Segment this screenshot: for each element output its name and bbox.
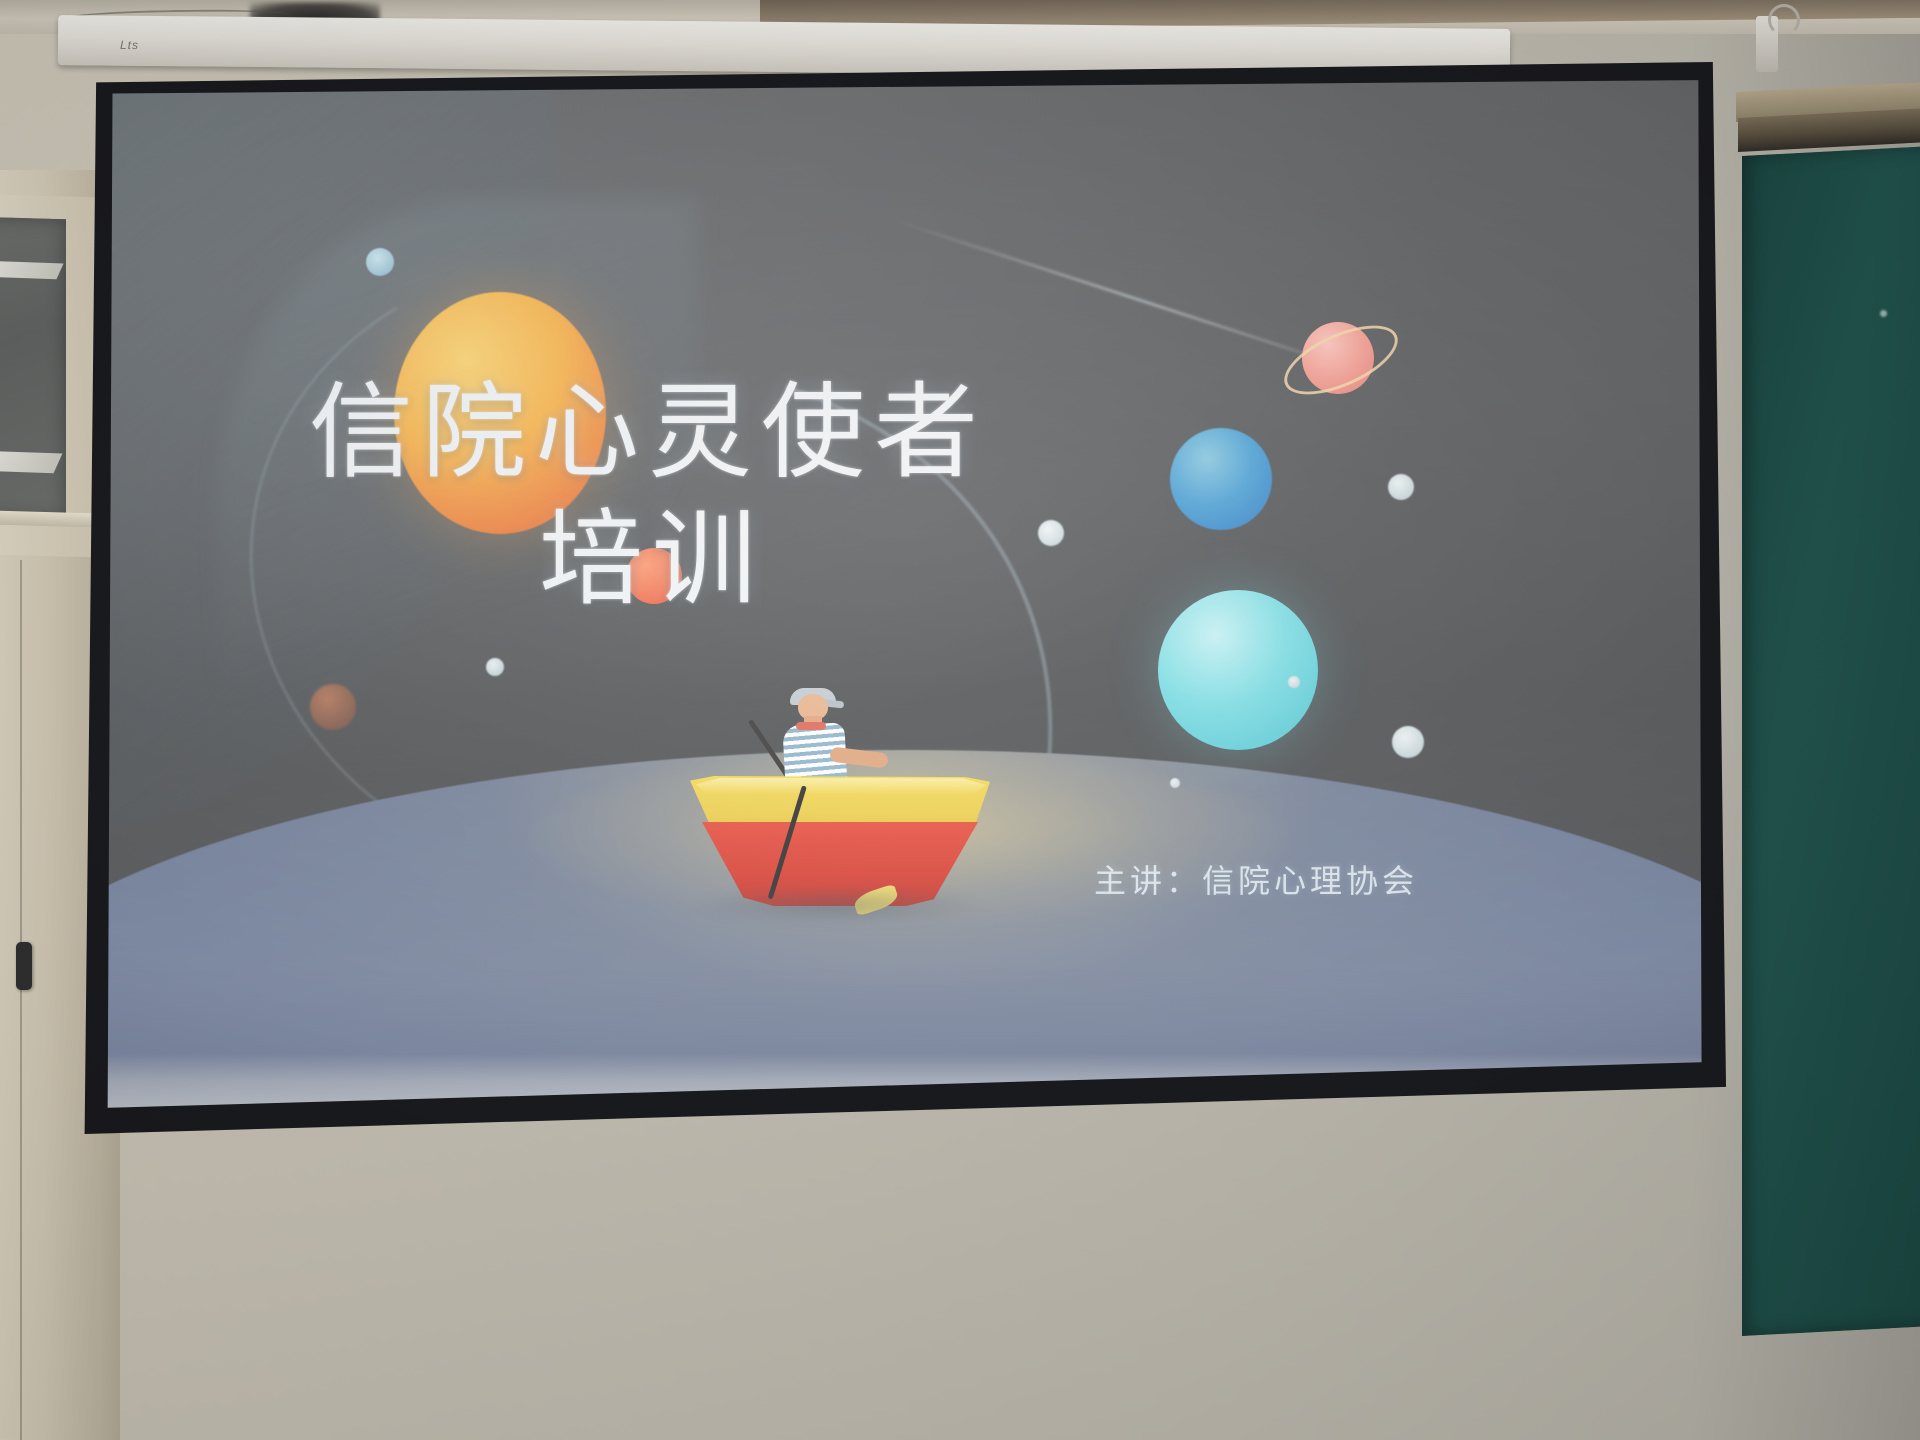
door-panel (0, 555, 98, 1440)
star-speck-icon (1170, 778, 1180, 788)
sun-icon (394, 292, 606, 534)
star-speck-icon (486, 658, 504, 676)
door-handle[interactable] (16, 942, 32, 990)
star-speck-icon (1038, 520, 1064, 546)
presentation-slide: 信院心灵使者 培训 主讲：信院心理协会 (98, 78, 1708, 1114)
saturn-planet-icon (1290, 310, 1386, 406)
projection-screen-surface: 信院心灵使者 培训 主讲：信院心理协会 (98, 78, 1708, 1114)
star-speck-icon (1288, 676, 1300, 688)
person-collar (796, 722, 826, 730)
star-speck-icon (366, 248, 394, 276)
green-chalkboard (1742, 145, 1920, 1336)
roller-hook-icon (1768, 4, 1800, 36)
roller-brand-label: Lts (120, 38, 139, 52)
window-glint (0, 261, 64, 280)
window-glint (0, 451, 62, 473)
star-speck-icon (1392, 726, 1424, 758)
cyan-planet-icon (1158, 590, 1318, 750)
star-speck-icon (1388, 474, 1414, 500)
door-seam (20, 560, 22, 1440)
orange-planet-icon (626, 548, 682, 604)
presenter-credit: 主讲：信院心理协会 (758, 856, 1418, 902)
chalk-mark (1880, 310, 1887, 317)
blue-planet-icon (1170, 428, 1272, 530)
rust-planet-icon (310, 684, 356, 730)
boat-rim (696, 778, 986, 794)
classroom-photo: Lts (0, 0, 1920, 1440)
